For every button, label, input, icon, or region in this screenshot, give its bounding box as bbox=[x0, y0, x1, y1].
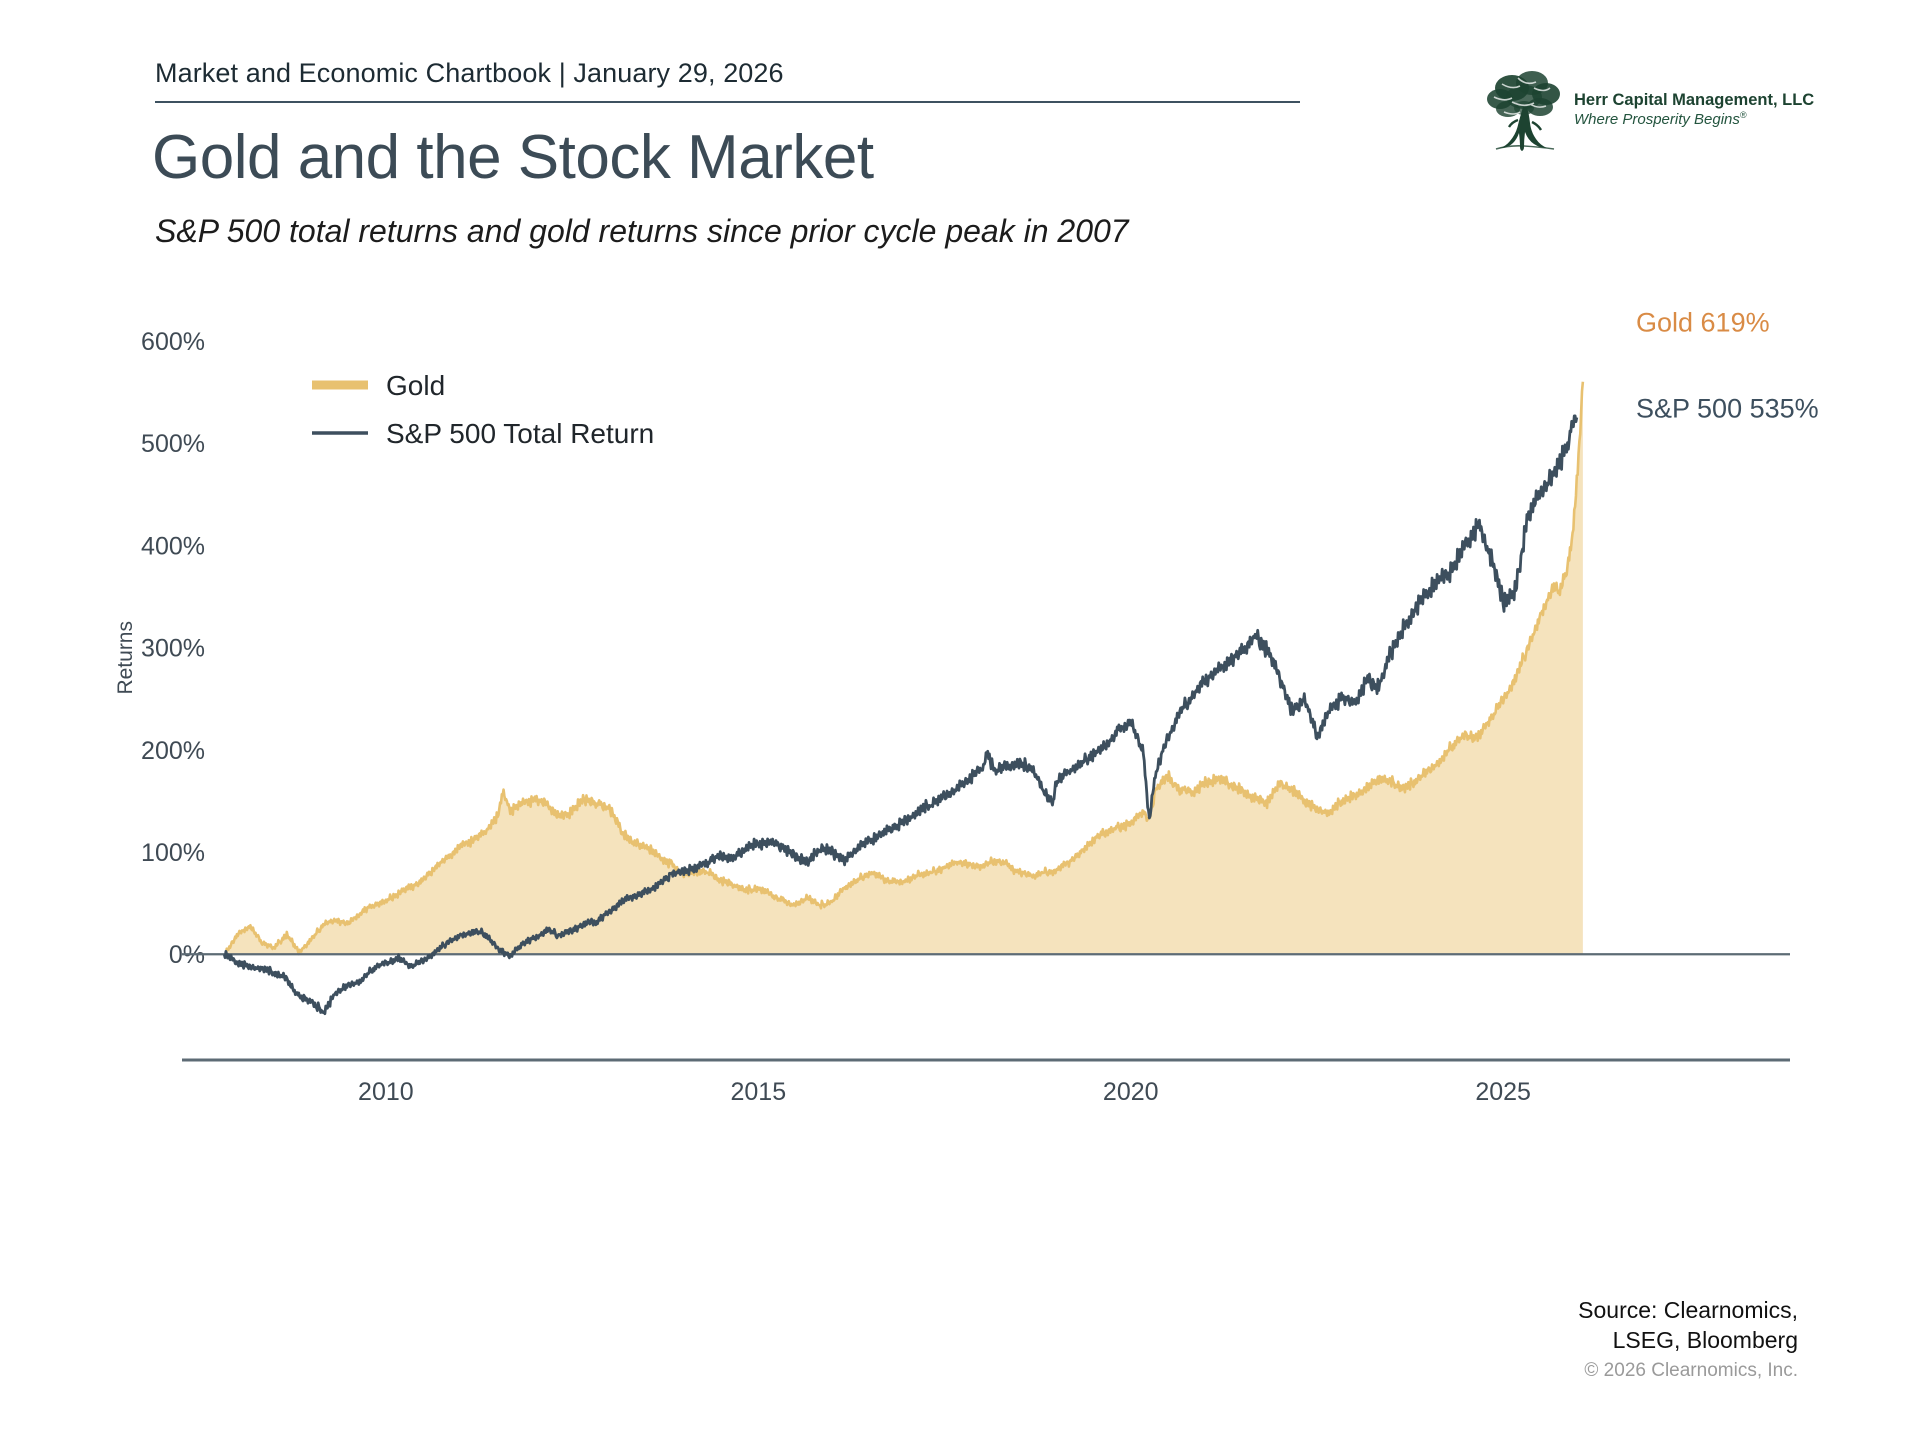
legend-label-gold: Gold bbox=[386, 370, 445, 401]
brand-tagline-text: Where Prosperity Begins bbox=[1574, 111, 1740, 128]
y-tick-100: 100% bbox=[141, 839, 205, 867]
y-tick-300: 300% bbox=[141, 635, 205, 663]
tree-icon bbox=[1482, 64, 1568, 156]
footer-block: Source: Clearnomics, LSEG, Bloomberg © 2… bbox=[1578, 1296, 1798, 1382]
brand-name: Herr Capital Management, LLC bbox=[1574, 90, 1814, 111]
brand-tagline: Where Prosperity Begins® bbox=[1574, 110, 1814, 130]
source-line-2: LSEG, Bloomberg bbox=[1578, 1326, 1798, 1355]
x-tick-2015: 2015 bbox=[730, 1078, 786, 1106]
gold-area-fill bbox=[224, 382, 1583, 955]
page-subtitle: S&P 500 total returns and gold returns s… bbox=[155, 213, 1129, 250]
y-tick-200: 200% bbox=[141, 737, 205, 765]
source-line-1: Source: Clearnomics, bbox=[1578, 1296, 1798, 1325]
x-axis-tick-labels: 2010201520202025 bbox=[358, 1078, 1531, 1106]
chart-legend: GoldS&P 500 Total Return bbox=[312, 370, 654, 449]
chart-region: 0%100%200%300%400%500%600% 2010201520202… bbox=[0, 300, 1920, 1160]
x-tick-2010: 2010 bbox=[358, 1078, 414, 1106]
series-annotations: Gold 619%S&P 500 535% bbox=[1636, 307, 1819, 423]
chartbook-subtitle: Market and Economic Chartbook | January … bbox=[155, 58, 1300, 89]
y-tick-400: 400% bbox=[141, 532, 205, 560]
y-tick-500: 500% bbox=[141, 430, 205, 458]
registered-mark: ® bbox=[1740, 110, 1747, 120]
y-axis-title: Returns bbox=[114, 621, 137, 695]
sp500-end-label: S&P 500 535% bbox=[1636, 393, 1819, 423]
returns-chart: 0%100%200%300%400%500%600% 2010201520202… bbox=[0, 300, 1920, 1160]
y-tick-600: 600% bbox=[141, 328, 205, 356]
x-tick-2025: 2025 bbox=[1475, 1078, 1531, 1106]
brand-logo: Herr Capital Management, LLC Where Prosp… bbox=[1482, 62, 1792, 158]
gold-end-label: Gold 619% bbox=[1636, 307, 1770, 337]
copyright-line: © 2026 Clearnomics, Inc. bbox=[1578, 1360, 1798, 1382]
y-axis-tick-labels: 0%100%200%300%400%500%600% bbox=[141, 328, 205, 969]
page-title: Gold and the Stock Market bbox=[152, 122, 874, 193]
header-divider bbox=[155, 101, 1300, 103]
header-bar: Market and Economic Chartbook | January … bbox=[155, 58, 1300, 103]
x-tick-2020: 2020 bbox=[1103, 1078, 1159, 1106]
legend-label-sp500: S&P 500 Total Return bbox=[386, 418, 654, 449]
